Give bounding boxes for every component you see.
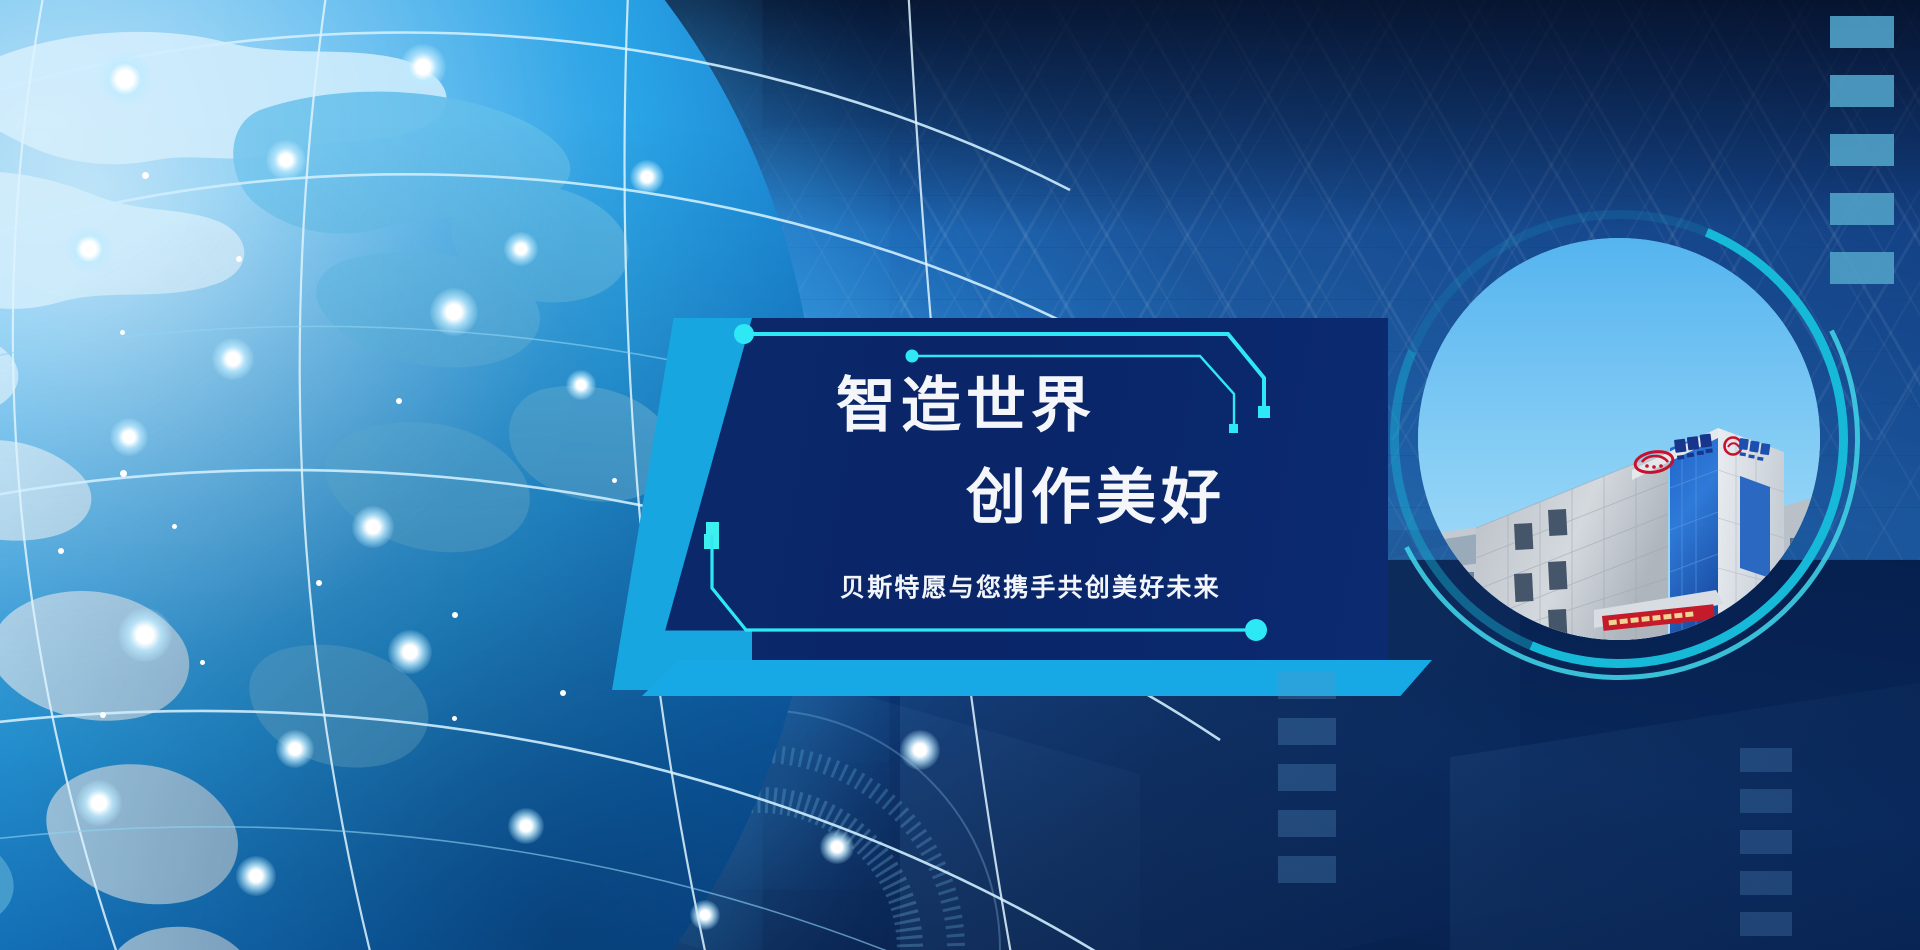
network-node-spark (630, 160, 664, 194)
network-node-spark (276, 730, 314, 768)
headline-line-1: 智造世界 (836, 376, 1096, 436)
network-node-spark (400, 44, 446, 90)
network-dot (200, 660, 205, 665)
network-node-spark (118, 608, 172, 662)
network-node-spark (504, 232, 538, 266)
network-node-spark (98, 52, 152, 106)
network-dot (58, 548, 64, 554)
bar-stack-item (1278, 856, 1336, 883)
network-node-spark (66, 226, 112, 272)
network-dot (100, 712, 106, 718)
network-dot (316, 580, 322, 586)
headline-subtitle: 贝斯特愿与您携手共创美好未来 (840, 568, 1221, 604)
network-node-spark (690, 900, 720, 930)
network-node-spark (76, 780, 122, 826)
bar-stack-top-right (1830, 16, 1894, 284)
network-dot (560, 690, 566, 696)
network-dot (236, 256, 242, 262)
hero-banner: 智造世界 创作美好 贝斯特愿与您携手共创美好未来 (0, 0, 1920, 950)
network-dot (612, 478, 617, 483)
bar-stack-item (1740, 912, 1792, 936)
network-dot (452, 716, 457, 721)
network-node-spark (566, 370, 596, 400)
bar-stack-item (1740, 830, 1792, 854)
bar-stack-item (1278, 764, 1336, 791)
network-node-spark (236, 856, 276, 896)
bar-stack-item (1830, 16, 1894, 48)
circular-photo (1404, 224, 1834, 654)
network-dot (452, 612, 458, 618)
network-node-spark (110, 418, 148, 456)
network-dot (396, 398, 402, 404)
bar-stack-item (1740, 871, 1792, 895)
bar-stack-item (1740, 789, 1792, 813)
bar-stack-item (1830, 75, 1894, 107)
network-dot (172, 524, 177, 529)
network-node-spark (266, 140, 306, 180)
network-node-spark (352, 506, 394, 548)
network-node-spark (820, 830, 854, 864)
bar-stack-item (1830, 193, 1894, 225)
headline-line-2: 创作美好 (966, 468, 1226, 528)
network-dot (120, 330, 125, 335)
bar-stack-item (1830, 252, 1894, 284)
bar-stack-bottom-right (1740, 748, 1792, 936)
bar-stack-middle (1278, 672, 1336, 883)
bar-stack-item (1740, 748, 1792, 772)
network-node-spark (508, 808, 544, 844)
bar-stack-item (1278, 672, 1336, 699)
network-node-spark (388, 630, 432, 674)
bar-stack-item (1278, 718, 1336, 745)
headline-text-block: 智造世界 创作美好 贝斯特愿与您携手共创美好未来 (648, 318, 1388, 660)
bar-stack-item (1278, 810, 1336, 837)
network-node-spark (212, 338, 254, 380)
network-dot (120, 470, 127, 477)
bar-stack-item (1830, 134, 1894, 166)
network-node-spark (900, 730, 940, 770)
network-node-spark (430, 288, 478, 336)
network-dot (142, 172, 149, 179)
photo-image (1418, 238, 1820, 640)
